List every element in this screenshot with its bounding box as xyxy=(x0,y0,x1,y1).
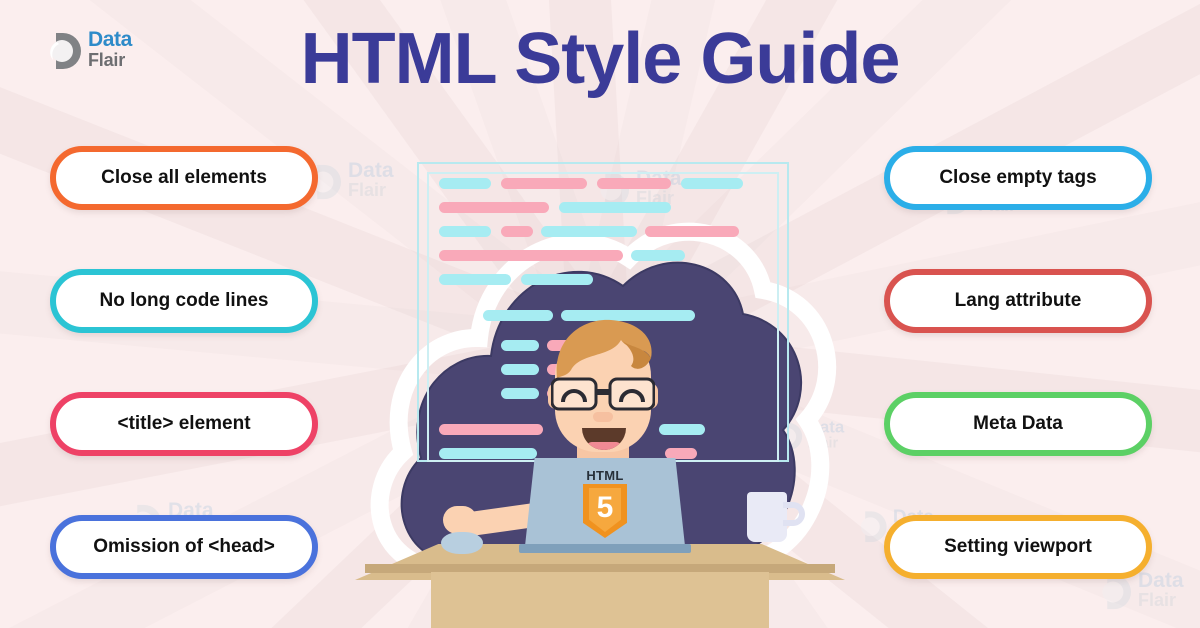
code-line-segment xyxy=(645,226,739,237)
pill-left-1[interactable]: Close all elements xyxy=(50,146,318,210)
code-line-segment xyxy=(439,202,549,213)
code-line-segment xyxy=(559,202,671,213)
pill-right-4[interactable]: Setting viewport xyxy=(884,515,1152,579)
code-line-segment xyxy=(483,310,553,321)
code-line-segment xyxy=(439,178,491,189)
code-line-segment xyxy=(541,226,637,237)
pill-label: No long code lines xyxy=(100,290,269,312)
code-line-segment xyxy=(501,364,539,375)
developer-illustration: HTML 5 xyxy=(355,140,845,628)
pill-label: Lang attribute xyxy=(955,290,1082,312)
pill-label: <title> element xyxy=(117,413,250,435)
laptop-html-label: HTML xyxy=(525,468,685,483)
person-hand xyxy=(443,506,477,534)
code-line-segment xyxy=(631,250,685,261)
person-nose xyxy=(593,412,613,422)
person-mouth xyxy=(582,428,626,450)
code-line-segment xyxy=(439,424,543,435)
coffee-mug xyxy=(747,492,787,542)
pill-left-4[interactable]: Omission of <head> xyxy=(50,515,318,579)
code-line-segment xyxy=(597,178,671,189)
code-line-segment xyxy=(439,274,511,285)
page-title: HTML Style Guide xyxy=(0,18,1200,100)
pill-label: Setting viewport xyxy=(944,536,1092,558)
pill-left-3[interactable]: <title> element xyxy=(50,392,318,456)
desk-front-panel xyxy=(431,572,769,628)
html5-badge-number: 5 xyxy=(583,488,627,528)
pill-label: Close empty tags xyxy=(939,167,1096,189)
pill-label: Omission of <head> xyxy=(93,536,275,558)
code-line-segment xyxy=(501,226,533,237)
pill-right-2[interactable]: Lang attribute xyxy=(884,269,1152,333)
code-line-segment xyxy=(521,274,593,285)
laptop-base xyxy=(519,544,691,553)
code-line-segment xyxy=(665,448,697,459)
code-line-segment xyxy=(439,250,623,261)
pill-label: Close all elements xyxy=(101,167,267,189)
pill-left-2[interactable]: No long code lines xyxy=(50,269,318,333)
code-line-segment xyxy=(501,388,539,399)
code-line-segment xyxy=(501,178,587,189)
code-line-segment xyxy=(659,424,705,435)
infographic-canvas: DataFlairDataFlairDataFlairDataFlairData… xyxy=(0,0,1200,628)
person-glasses xyxy=(551,376,655,412)
code-line-segment xyxy=(439,448,537,459)
pill-right-3[interactable]: Meta Data xyxy=(884,392,1152,456)
pill-right-1[interactable]: Close empty tags xyxy=(884,146,1152,210)
code-line-segment xyxy=(501,340,539,351)
computer-mouse xyxy=(441,532,483,554)
pill-label: Meta Data xyxy=(973,413,1063,435)
code-line-segment xyxy=(681,178,743,189)
code-line-segment xyxy=(439,226,491,237)
